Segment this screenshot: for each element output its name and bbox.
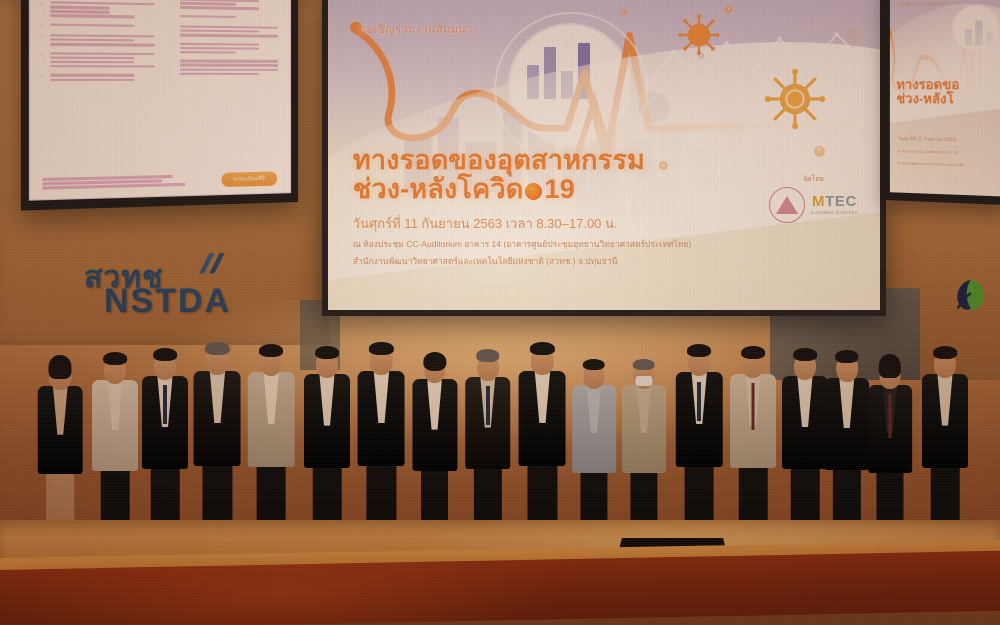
mtec-tagline: a member of NSTDA: [811, 211, 858, 216]
virus-icon: [676, 12, 722, 58]
nstda-wall-logo: สวทช NSTDA: [84, 252, 264, 332]
nstda-english-text: NSTDA: [104, 282, 231, 321]
person-necktie: [163, 385, 167, 424]
agenda-row: —: [171, 15, 282, 21]
slide-location-line1: ณ ห้องประชุม CC-Auditorium อาคาร 14 (อาค…: [353, 237, 858, 251]
sponsor-label: จัดโดย: [769, 174, 858, 185]
person-hair: [835, 350, 859, 362]
projection-screen-frame: ขอเชิญร่วมงานสัมมนา ทางรอดของอุตสาหกรรม …: [322, 0, 886, 316]
right-display-monitor: ขอเชิญร่วมงานสัมมนา ทางรอดขอ ช่วง-หลังโ …: [884, 0, 1000, 205]
virus-icon: [764, 68, 826, 130]
person-necktie: [697, 382, 701, 422]
triangle-circle-logo-icon: [769, 187, 805, 223]
person-hair: [530, 342, 554, 355]
right-slide-location1: ณ ห้องประชุม CC-Auditorium อาคาร 14: [898, 149, 958, 155]
agenda-row: —: [171, 0, 282, 10]
leaf-decoration-icon: [952, 275, 990, 315]
right-slide-kicker: ขอเชิญร่วมงานสัมมนา: [898, 0, 948, 10]
slide-title-line1: ทางรอดของอุตสาหกรรม: [353, 146, 858, 175]
left-display-monitor: — — — — — — — — — — — — —: [21, 0, 298, 211]
person-hair: [153, 348, 177, 360]
person-hair: [879, 354, 902, 378]
triangle-shape: [776, 196, 798, 214]
person-face-mask: [635, 376, 652, 386]
agenda-row: —: [171, 42, 282, 54]
person-hair: [315, 346, 339, 358]
auditorium-photo: — — — — — — — — — — — — —: [0, 0, 1000, 625]
agenda-row: —: [40, 52, 158, 68]
agenda-footnote: [42, 175, 185, 190]
slide-kicker-text: ขอเชิญร่วมงานสัมมนา: [358, 20, 472, 38]
right-slide-title: ทางรอดขอ ช่วง-หลังโ: [896, 77, 959, 107]
virus-icon: [836, 19, 870, 53]
person-hair: [933, 346, 957, 358]
person-hair: [476, 349, 500, 361]
person-hair: [741, 346, 765, 358]
mtec-logo-icon: MTEC a member of NSTDA: [811, 194, 858, 216]
person-hair: [633, 359, 656, 371]
virus-dot: [621, 9, 627, 15]
person-hair: [687, 344, 711, 357]
slide-title-line2-after: 19: [544, 174, 574, 204]
person-hair: [259, 344, 283, 357]
slide-location-line2: สำนักงานพัฒนาวิทยาศาสตร์และเทคโนโลยีแห่ง…: [353, 254, 858, 268]
person-hair: [423, 352, 446, 371]
agenda-row: —: [40, 74, 158, 81]
register-button[interactable]: ลงทะเบียนที่นี่: [221, 171, 277, 187]
person-hair: [583, 359, 606, 371]
agenda-column-right: — — — — — —: [171, 0, 282, 157]
person-lanyard: [752, 383, 755, 430]
sponsor-logo-row: MTEC a member of NSTDA: [769, 187, 858, 223]
slide-title-line2-before: ช่วง-หลังโควิด: [353, 174, 524, 204]
covid-virus-dot-icon: [525, 183, 542, 200]
right-slide-location2: สำนักงานพัฒนาวิทยาศาสตร์และเทคโนโลยีแ: [898, 162, 965, 169]
projection-screen: ขอเชิญร่วมงานสัมมนา ทางรอดของอุตสาหกรรม …: [328, 0, 880, 310]
mtec-letters-rest: TEC: [825, 193, 857, 210]
agenda-column-left: — — — — — — —: [40, 0, 158, 160]
agenda-row: —: [40, 1, 158, 19]
right-slide-title-line2: ช่วง-หลังโ: [896, 91, 953, 106]
agenda-row: —: [171, 25, 282, 37]
person-lanyard: [888, 394, 891, 438]
person-hair: [205, 342, 229, 355]
person-hair: [793, 348, 817, 360]
left-monitor-screen: — — — — — — — — — — — — —: [29, 0, 291, 201]
right-monitor-screen: ขอเชิญร่วมงานสัมมนา ทางรอดขอ ช่วง-หลังโ …: [890, 0, 1000, 196]
agenda-row: —: [171, 60, 282, 76]
person-hair: [103, 352, 127, 364]
mtec-letter-m: M: [812, 193, 825, 210]
agenda-columns: — — — — — — — — — — — — —: [40, 0, 281, 160]
agenda-row: —: [40, 34, 158, 46]
agenda-row: —: [40, 23, 158, 29]
sponsor-block: จัดโดย MTEC a member of NSTDA: [769, 174, 858, 223]
seminar-slide: ขอเชิญร่วมงานสัมมนา ทางรอดของอุตสาหกรรม …: [328, 0, 880, 310]
person-hair: [369, 342, 393, 355]
virus-dot: [698, 53, 704, 59]
person-hair: [49, 355, 72, 380]
person-necktie: [486, 386, 490, 425]
nstda-chevron-icon: [194, 248, 228, 282]
right-slide-date: วันศุกร์ที่ 11 กันยายน 2563: [898, 135, 956, 144]
right-slide-title-line1: ทางรอดขอ: [896, 76, 959, 91]
mtec-wordmark: MTEC: [811, 194, 858, 209]
